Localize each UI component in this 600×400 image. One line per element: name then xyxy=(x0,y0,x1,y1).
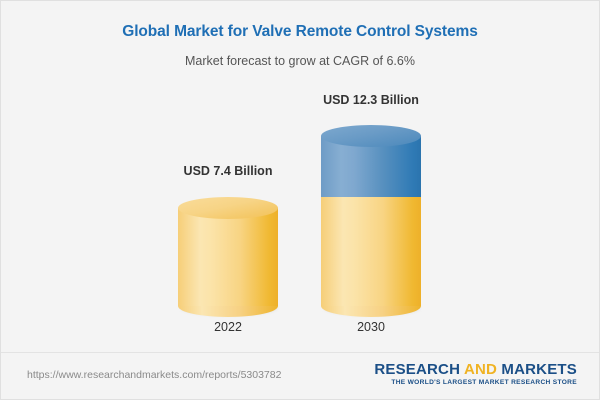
bar-2030[interactable] xyxy=(321,125,421,311)
plot-area: USD 7.4 Billion 2022 USD 12.3 Billion 20… xyxy=(1,1,600,353)
footer: https://www.researchandmarkets.com/repor… xyxy=(1,353,599,399)
bar-2022-top-cap xyxy=(178,197,278,219)
logo-word-research: RESEARCH xyxy=(374,361,460,378)
bar-2022[interactable] xyxy=(178,197,278,311)
logo-tagline: THE WORLD'S LARGEST MARKET RESEARCH STOR… xyxy=(374,379,577,386)
bar-2030-segment-gold xyxy=(321,197,421,306)
bar-2030-category-label: 2030 xyxy=(321,320,421,334)
bar-2022-category-label: 2022 xyxy=(178,320,278,334)
bar-2030-value-label: USD 12.3 Billion xyxy=(296,93,446,107)
logo-word-and: AND xyxy=(464,361,497,378)
logo-word-markets: MARKETS xyxy=(501,361,577,378)
bar-2022-segment-gold xyxy=(178,208,278,306)
bar-2030-top-cap xyxy=(321,125,421,147)
chart-infographic: Global Market for Valve Remote Control S… xyxy=(0,0,600,400)
bar-2022-value-label: USD 7.4 Billion xyxy=(158,164,298,178)
logo-wordmark: RESEARCH AND MARKETS xyxy=(374,361,577,378)
research-and-markets-logo[interactable]: RESEARCH AND MARKETS THE WORLD'S LARGEST… xyxy=(374,361,577,386)
report-url-link[interactable]: https://www.researchandmarkets.com/repor… xyxy=(27,369,281,381)
